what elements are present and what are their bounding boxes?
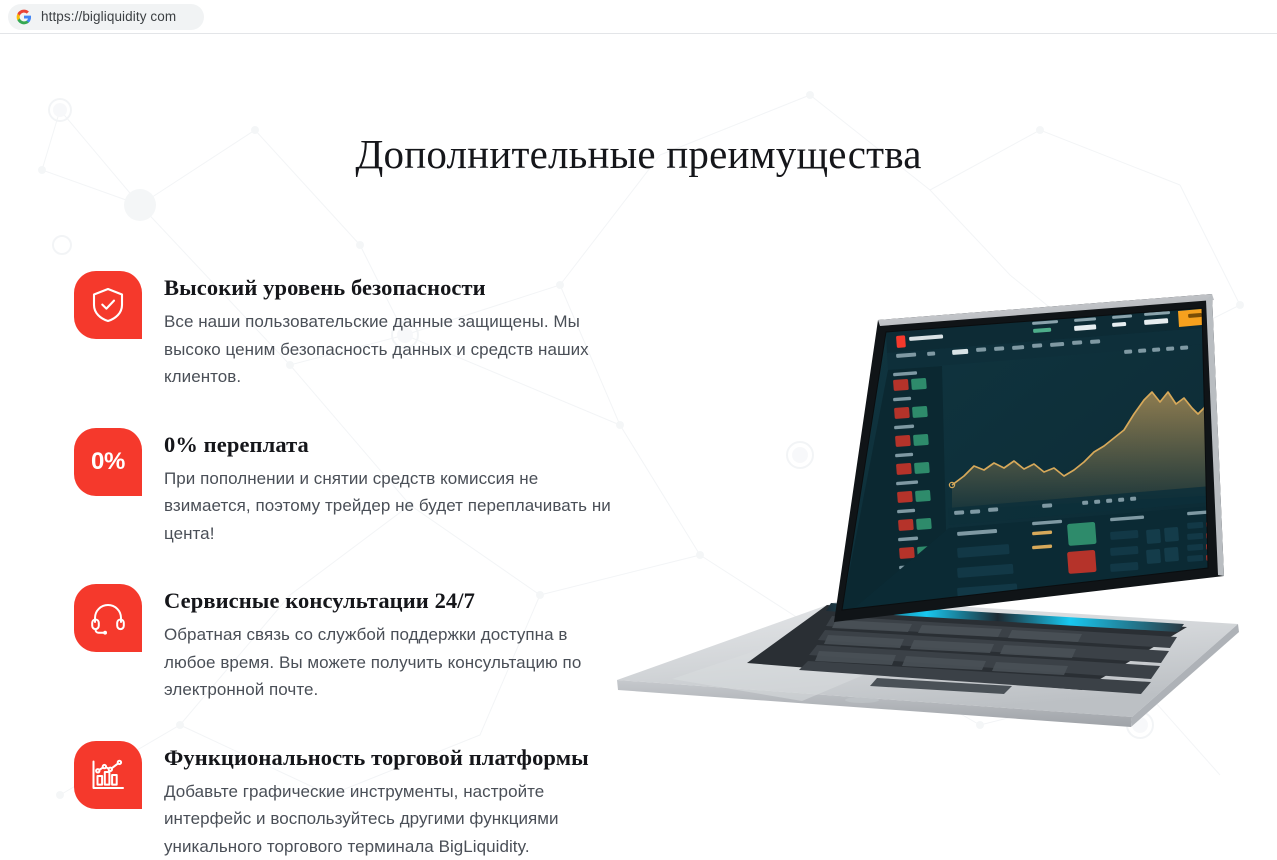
feature-description: Добавьте графические инструменты, настро… [164, 778, 616, 860]
url-text: https://bigliquidity com [41, 9, 176, 24]
feature-text-block: Функциональность торговой платформы Доба… [164, 741, 616, 860]
feature-description: Все наши пользовательские данные защищен… [164, 308, 616, 391]
feature-text-block: 0% переплата При пополнении и снятии сре… [164, 428, 616, 548]
macbook-illustration [612, 280, 1272, 740]
feature-item-security: Высокий уровень безопасности Все наши по… [74, 271, 634, 391]
headset-icon [74, 584, 142, 652]
address-bar[interactable]: https://bigliquidity com [8, 4, 204, 30]
feature-text-block: Высокий уровень безопасности Все наши по… [164, 271, 616, 391]
bar-chart-trend-icon [74, 741, 142, 809]
feature-text-block: Сервисные консультации 24/7 Обратная свя… [164, 584, 616, 704]
feature-title: Функциональность торговой платформы [164, 744, 616, 771]
feature-item-zero-fee: 0% 0% переплата При пополнении и снятии … [74, 428, 634, 548]
features-list: Высокий уровень безопасности Все наши по… [74, 271, 634, 860]
laptop-mockup-image [612, 280, 1272, 740]
feature-description: При пополнении и снятии средств комиссия… [164, 465, 616, 548]
google-g-icon [16, 9, 32, 25]
zero-percent-label: 0% [91, 448, 125, 476]
feature-description: Обратная связь со службой поддержки дост… [164, 621, 616, 704]
feature-title: Сервисные консультации 24/7 [164, 587, 616, 614]
zero-percent-icon: 0% [74, 428, 142, 496]
page-title: Дополнительные преимущества [0, 130, 1277, 178]
feature-item-platform: Функциональность торговой платформы Доба… [74, 741, 634, 860]
feature-item-support: Сервисные консультации 24/7 Обратная свя… [74, 584, 634, 704]
browser-bar: https://bigliquidity com [0, 0, 1277, 34]
feature-title: Высокий уровень безопасности [164, 274, 616, 301]
shield-check-icon [74, 271, 142, 339]
laptop-lid [834, 294, 1241, 622]
page-content: Дополнительные преимущества Высокий уров… [0, 35, 1277, 860]
feature-title: 0% переплата [164, 431, 616, 458]
